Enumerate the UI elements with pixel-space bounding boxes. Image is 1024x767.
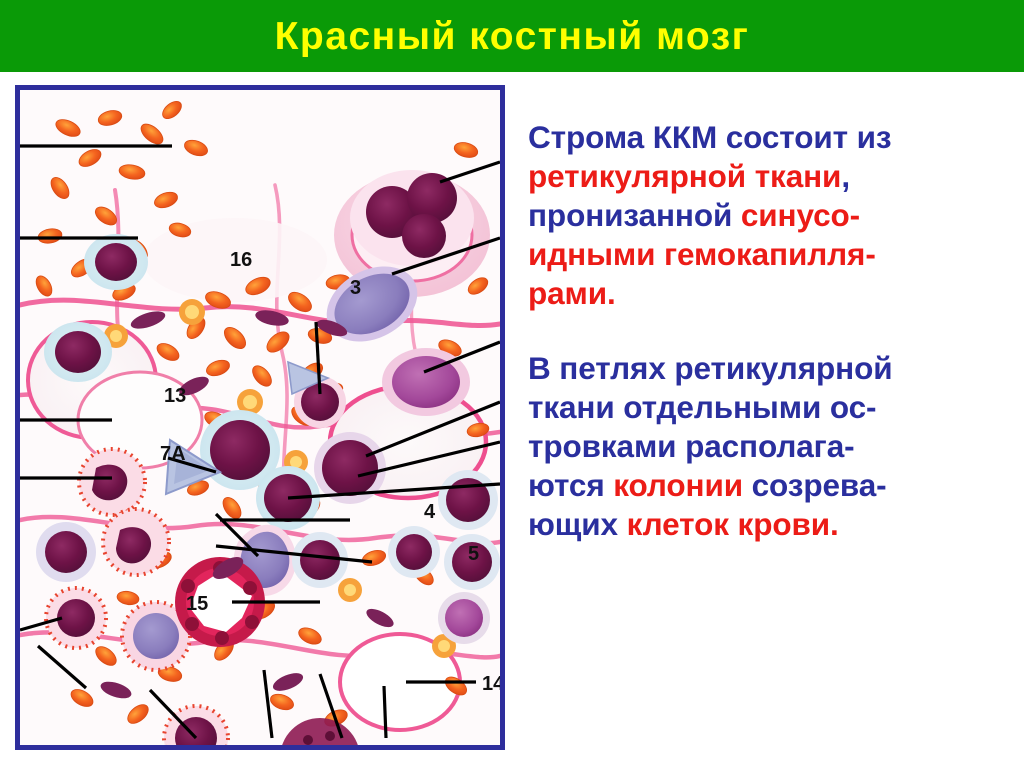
figure-label-14: 14 [482,673,500,695]
figure-label-7A: 7А [160,443,186,465]
figure-label-16: 16 [230,249,252,271]
paragraph-stroma: Строма ККМ состоит из ретикулярной ткани… [528,118,1012,312]
para2-line5: ющих клеток крови. [528,505,1012,544]
para1-line2: ретикулярной ткани, [528,157,1012,196]
figure-label-5: 5 [468,543,479,565]
para1-line1: Строма ККМ состоит из [528,118,1012,157]
title-banner: Красный костный мозг [0,0,1024,72]
para1-line4: идными гемокапилля- [528,235,1012,274]
explanation-text-column: Строма ККМ состоит из ретикулярной ткани… [528,118,1012,544]
histology-figure: 16 3 13 7А 4 5 15 14 [15,85,505,750]
para2-line4: ются колонии созрева- [528,466,1012,505]
para1-line3: пронизанной синусо- [528,196,1012,235]
histology-micrograph-illustration: 16 3 13 7А 4 5 15 14 [20,90,500,745]
paragraph-colonies: В петлях ретикулярной ткани отдельными о… [528,349,1012,543]
page-title: Красный костный мозг [275,17,750,56]
figure-label-3: 3 [350,277,361,299]
figure-label-4: 4 [424,501,436,523]
para1-line5: рами. [528,274,1012,313]
para2-line1: В петлях ретикулярной [528,349,1012,388]
figure-label-13: 13 [164,385,186,407]
figure-label-15: 15 [186,593,208,615]
para2-line3: тровками располага- [528,427,1012,466]
para2-line2: ткани отдельными ос- [528,388,1012,427]
